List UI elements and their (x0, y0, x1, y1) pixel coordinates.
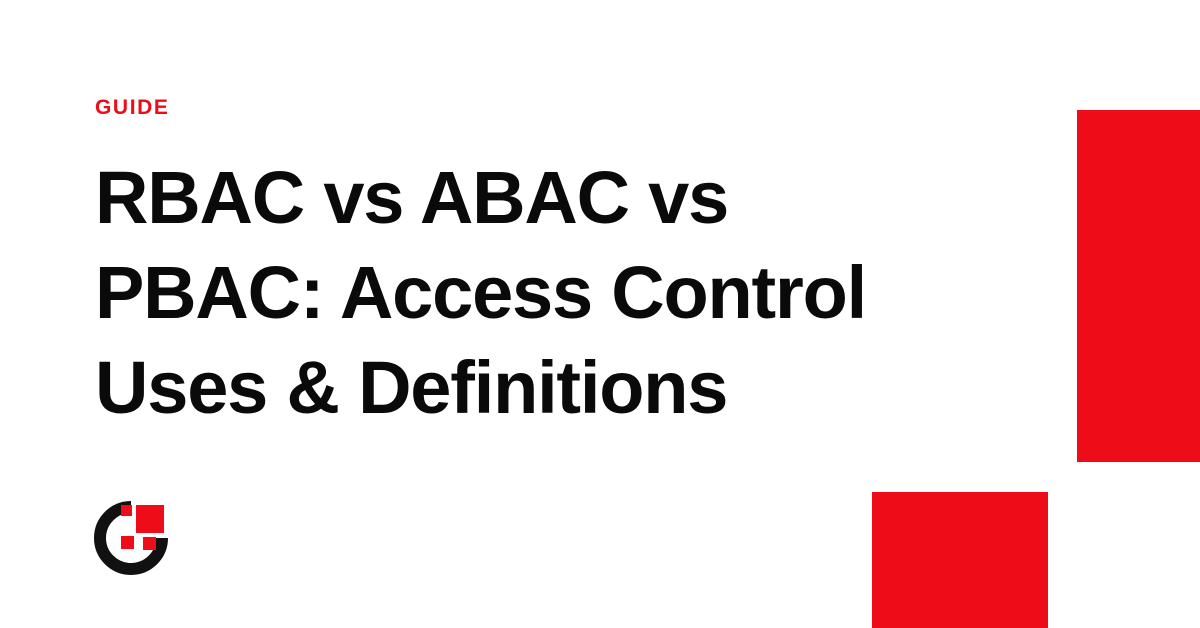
page-title-line-1: RBAC vs ABAC vs (95, 150, 1075, 245)
brand-logo-mark (88, 498, 176, 578)
social-card-canvas: GUIDE RBAC vs ABAC vs PBAC: Access Contr… (0, 0, 1200, 628)
page-title-line-3: Uses & Definitions (95, 340, 1075, 435)
bottom-red-square (872, 492, 1048, 628)
page-title: RBAC vs ABAC vs PBAC: Access Control Use… (95, 150, 1075, 435)
page-title-line-2: PBAC: Access Control (95, 245, 1075, 340)
tall-red-rectangle (1077, 110, 1200, 462)
eyebrow-label: GUIDE (95, 95, 170, 121)
